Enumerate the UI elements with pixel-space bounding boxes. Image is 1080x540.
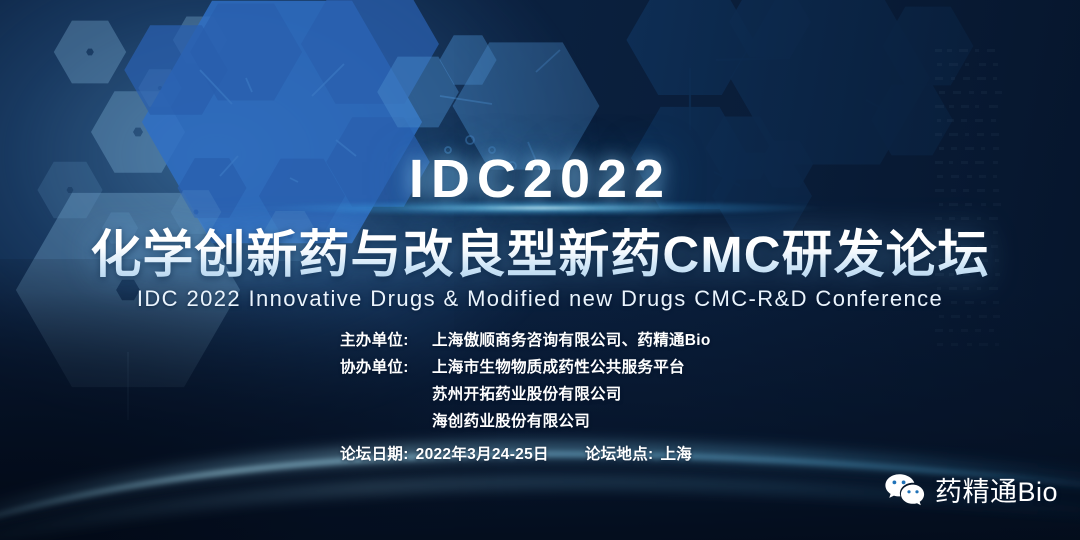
conference-poster: IDC2022 化学创新药与改良型新药CMC研发论坛 IDC 2022 Inno… xyxy=(0,0,1080,540)
date-label: 论坛日期: xyxy=(340,442,409,464)
wechat-icon xyxy=(884,473,926,507)
venue-value: 上海 xyxy=(661,442,693,464)
wechat-watermark: 药精通Bio xyxy=(884,470,1058,509)
organizer-row: 主办单位: 上海傲顺商务咨询有限公司、药精通Bio xyxy=(340,328,740,350)
organizer-row: 苏州开拓药业股份有限公司 xyxy=(340,382,740,404)
organizer-row: 海创药业股份有限公司 xyxy=(340,409,740,431)
organizer-label: 主办单位: xyxy=(340,328,432,350)
date-value: 2022年3月24-25日 xyxy=(416,442,549,464)
page-subtitle-en: IDC 2022 Innovative Drugs & Modified new… xyxy=(0,286,1080,312)
page-title-en: IDC2022 xyxy=(0,148,1080,210)
organizer-block: 主办单位: 上海傲顺商务咨询有限公司、药精通Bio 协办单位: 上海市生物物质成… xyxy=(0,328,1080,464)
page-title-cn: 化学创新药与改良型新药CMC研发论坛 xyxy=(0,213,1080,287)
organizer-value: 海创药业股份有限公司 xyxy=(432,409,740,431)
venue-label: 论坛地点: xyxy=(585,442,654,464)
organizer-label: 协办单位: xyxy=(340,355,432,377)
organizer-value: 上海傲顺商务咨询有限公司、药精通Bio xyxy=(432,328,740,350)
wechat-account-name: 药精通Bio xyxy=(935,470,1058,509)
organizer-row: 协办单位: 上海市生物物质成药性公共服务平台 xyxy=(340,355,740,377)
event-meta-row: 论坛日期: 2022年3月24-25日 论坛地点: 上海 xyxy=(340,442,740,464)
organizer-value: 苏州开拓药业股份有限公司 xyxy=(432,382,740,404)
organizer-value: 上海市生物物质成药性公共服务平台 xyxy=(432,355,740,377)
